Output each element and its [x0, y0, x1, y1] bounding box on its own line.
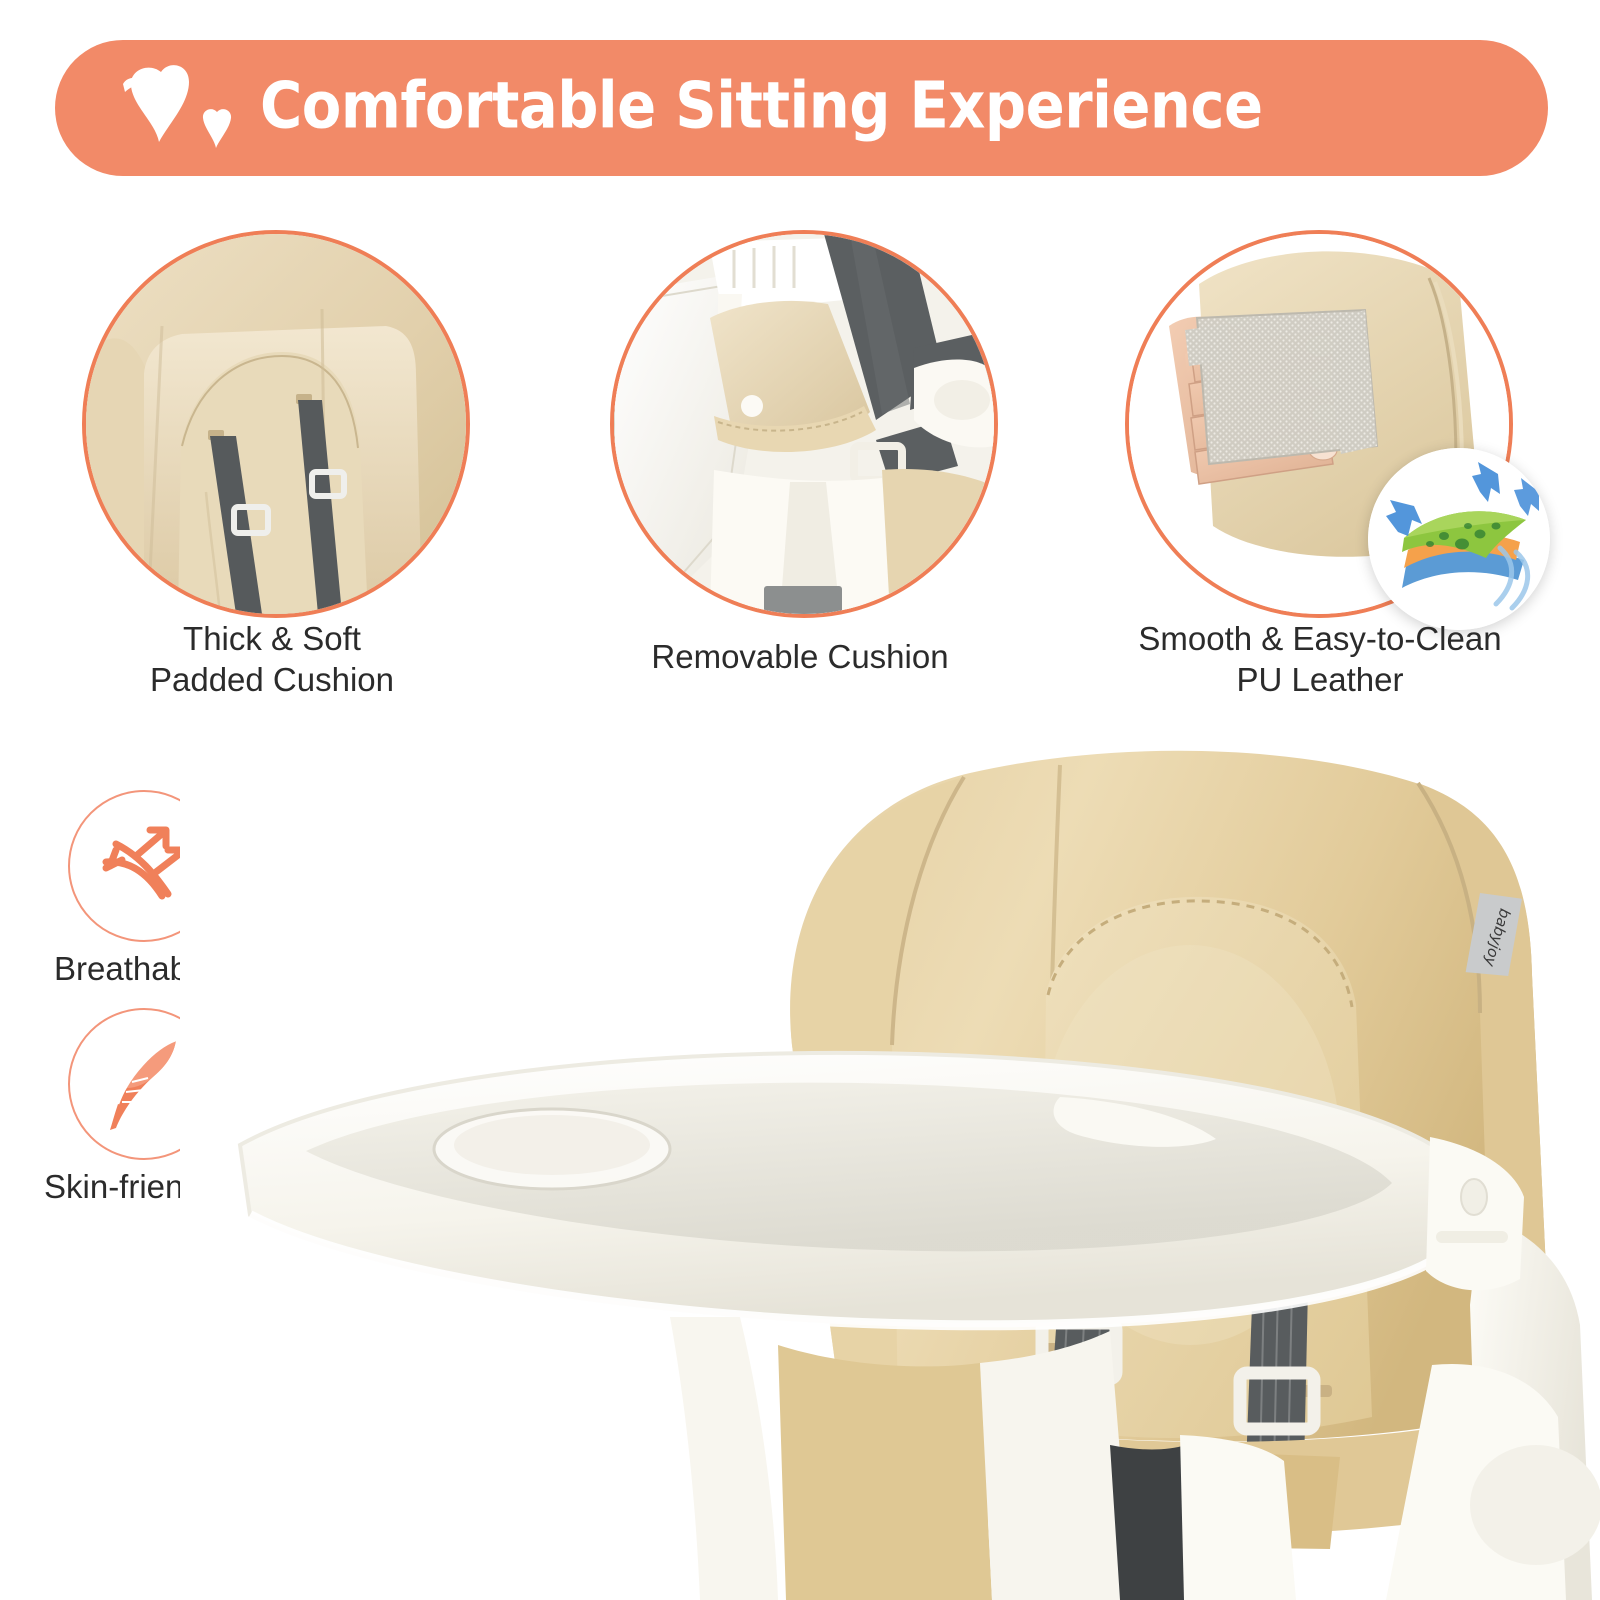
infographic-page: Comfortable Sitting Experience	[0, 0, 1600, 1600]
caption-easy-clean-leather: Smooth & Easy-to-Clean PU Leather	[1060, 618, 1580, 700]
high-chair-image: babyjoy	[180, 745, 1600, 1600]
photo-thick-soft-cushion	[82, 230, 470, 618]
layers-diagram-icon	[1368, 448, 1550, 630]
photo-removable-cushion	[610, 230, 998, 618]
removable-cushion-image	[614, 234, 994, 614]
hero-product-photo: babyjoy	[180, 745, 1600, 1600]
header-banner: Comfortable Sitting Experience	[55, 40, 1548, 176]
heart-icon	[115, 56, 245, 160]
banner-title: Comfortable Sitting Experience	[260, 70, 1263, 144]
caption-removable-cushion: Removable Cushion	[560, 636, 1040, 677]
breathable-waterproof-layers-badge	[1368, 448, 1550, 630]
cushion-closeup-image	[86, 234, 466, 614]
photo-feature-row	[0, 230, 1600, 610]
caption-thick-soft-cushion: Thick & Soft Padded Cushion	[32, 618, 512, 700]
